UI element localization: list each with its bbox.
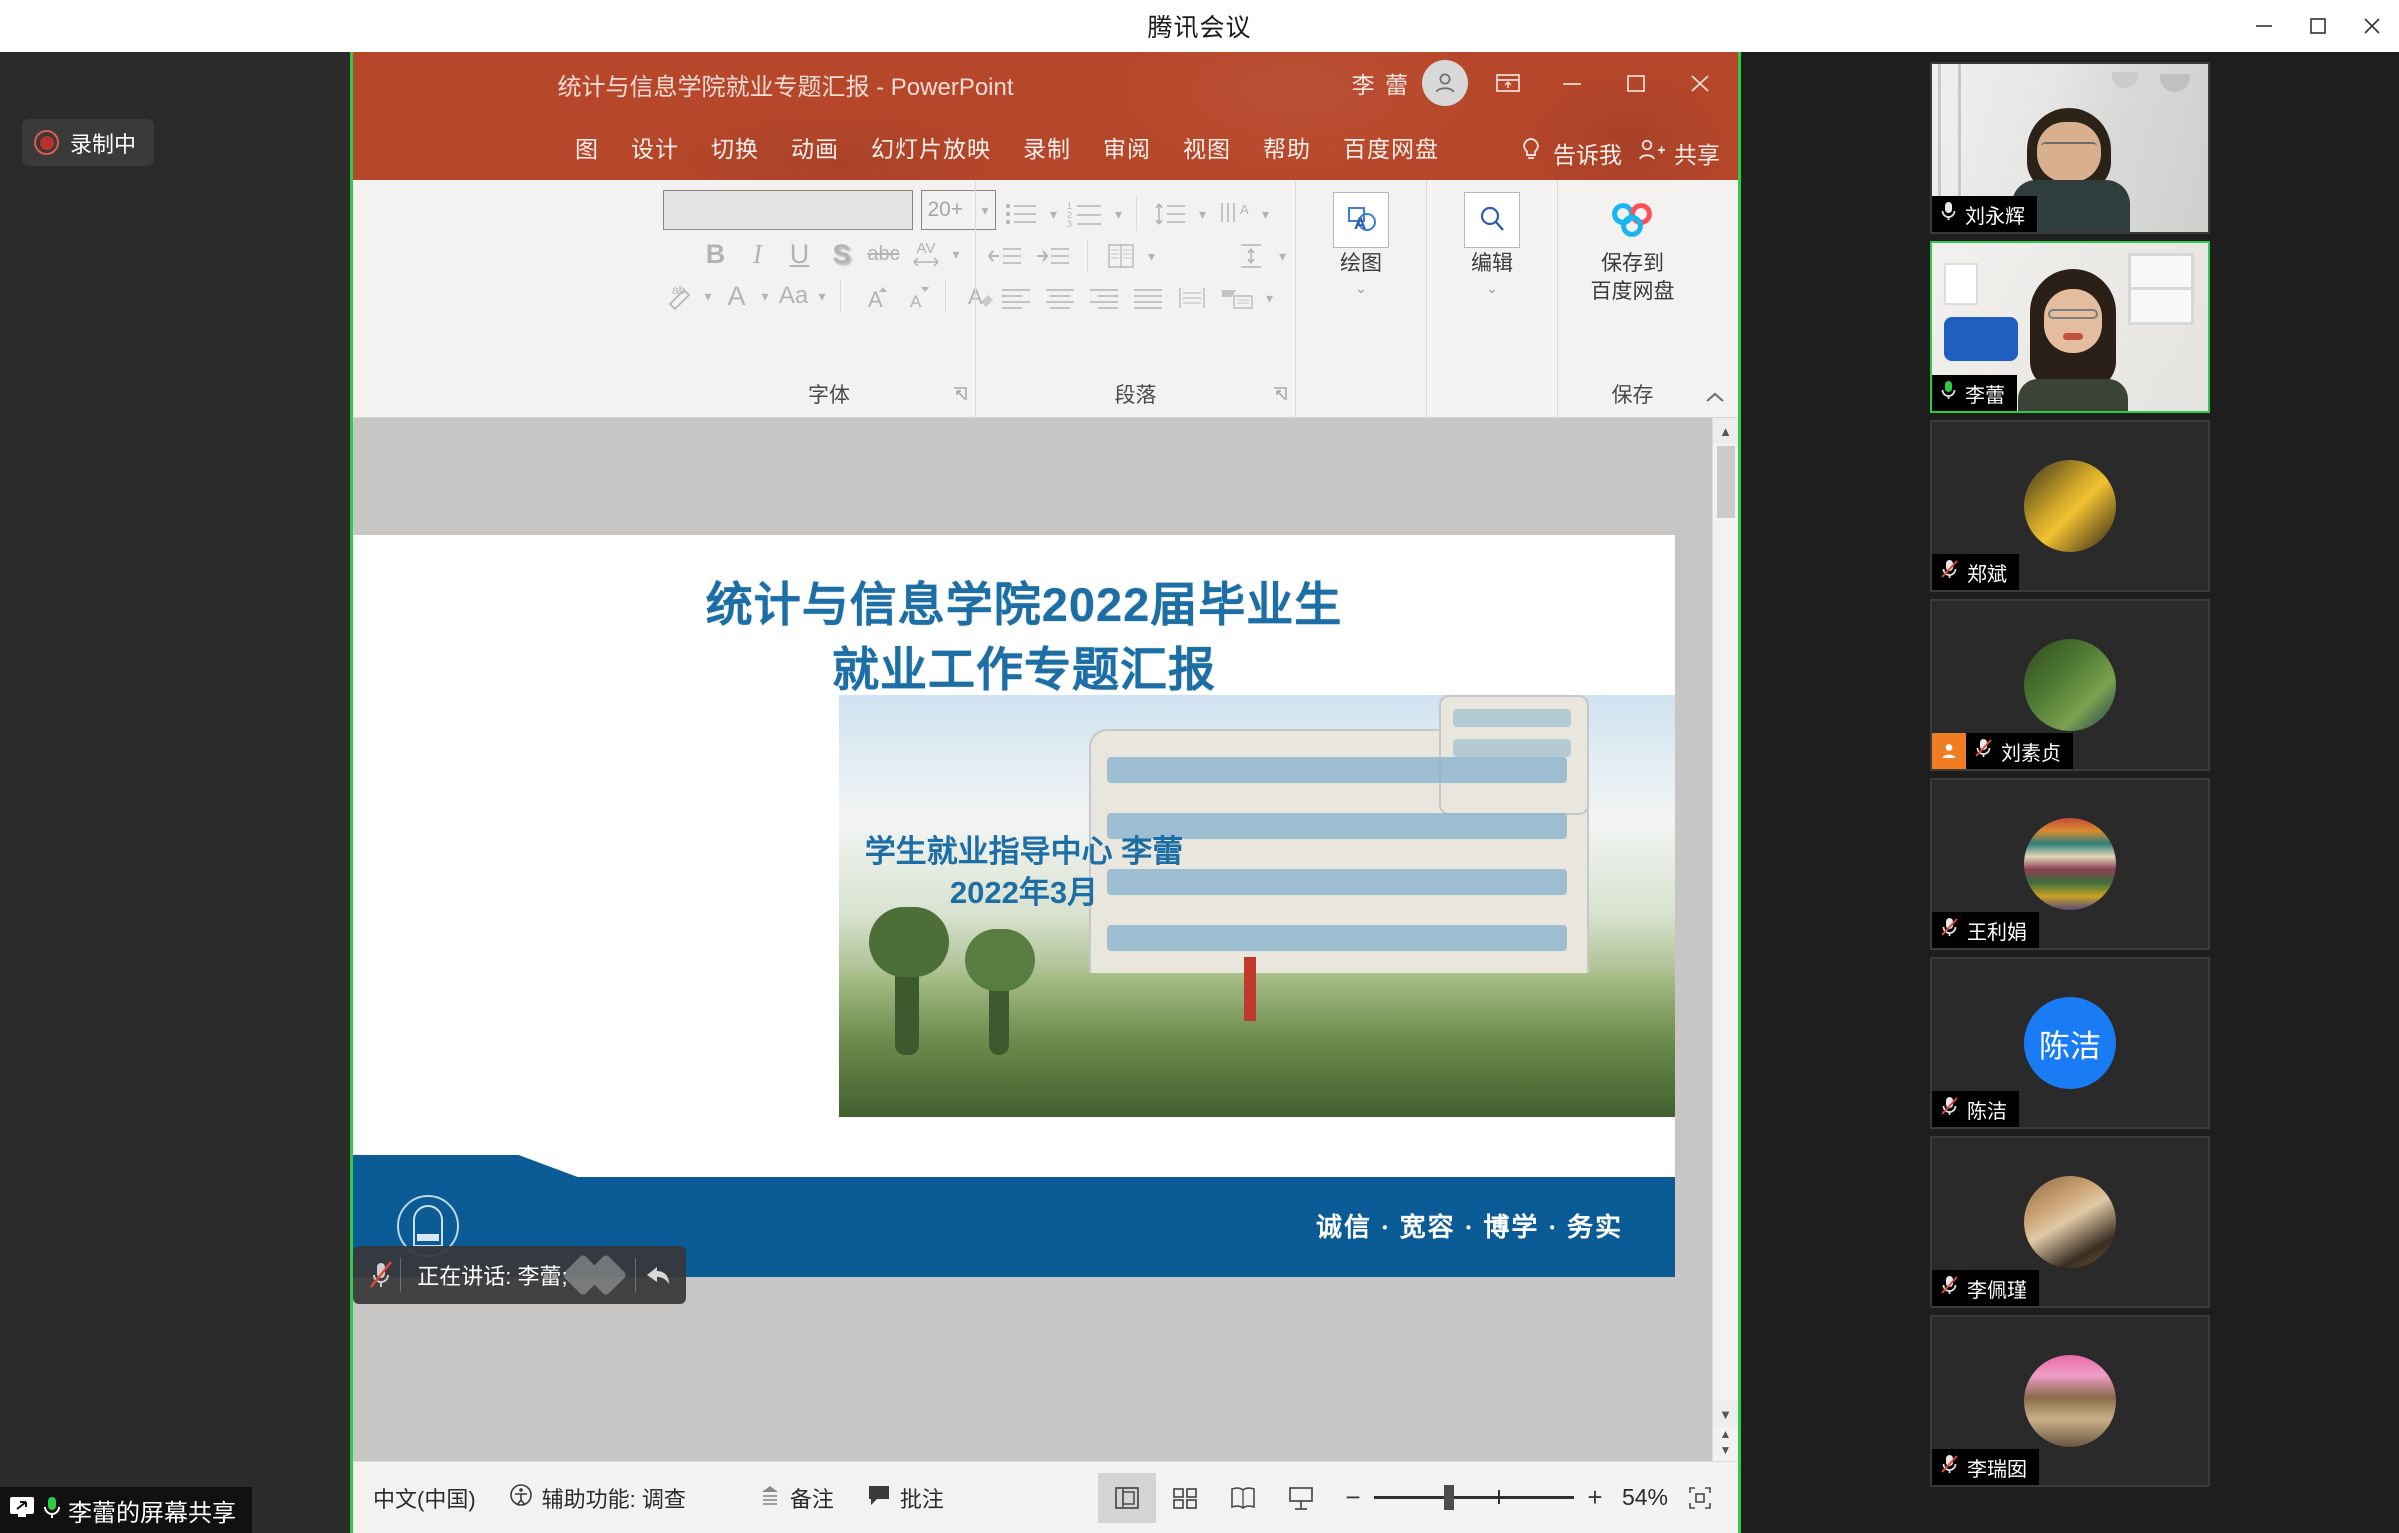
- comments-label: 批注: [900, 1482, 944, 1514]
- align-left-button[interactable]: [998, 278, 1034, 318]
- tell-me-button[interactable]: 告诉我: [1519, 136, 1622, 170]
- align-center-button[interactable]: [1042, 278, 1078, 318]
- mic-icon: [1940, 379, 1957, 407]
- zoom-out-button[interactable]: −: [1342, 1482, 1364, 1513]
- align-text-vertical-button[interactable]: [1231, 236, 1271, 276]
- avatar: [2024, 460, 2116, 552]
- font-size-value: 20+: [928, 198, 964, 222]
- accessibility-icon: [508, 1482, 534, 1514]
- account-name: 李 蕾: [1352, 66, 1410, 100]
- notes-icon: [758, 1483, 782, 1513]
- text-direction-chevron-icon[interactable]: ▾: [1262, 206, 1269, 223]
- slide-nav-buttons: ▲ ▼: [1720, 1427, 1732, 1461]
- character-spacing-button[interactable]: AV: [908, 234, 944, 274]
- columns-chevron-icon[interactable]: ▾: [1148, 248, 1155, 265]
- accessibility-label: 辅助功能: 调查: [542, 1482, 686, 1514]
- divider: [945, 279, 946, 313]
- notes-label: 备注: [790, 1482, 834, 1514]
- font-color-button[interactable]: A: [719, 276, 753, 316]
- ribbon-group-font: 20+ ▾ B I U S abc AV ▾ a: [683, 180, 975, 417]
- svg-text:3: 3: [1067, 219, 1072, 229]
- powerpoint-window: 统计与信息学院就业专题汇报 - PowerPoint 李 蕾: [350, 52, 1741, 1533]
- maximize-icon[interactable]: [2291, 0, 2345, 52]
- participant-name-badge: 刘素贞: [1966, 733, 2073, 769]
- tab-view[interactable]: 视图: [1167, 130, 1247, 164]
- slide-title: 统计与信息学院2022届毕业生 就业工作专题汇报: [353, 573, 1675, 703]
- zoom-in-button[interactable]: +: [1584, 1482, 1606, 1513]
- drawing-chevron-icon[interactable]: ⌄: [1355, 280, 1367, 297]
- scroll-up-icon[interactable]: ▲: [1713, 418, 1739, 444]
- ribbon-group-save: 保存到 百度网盘 保存: [1557, 180, 1707, 417]
- convert-to-smartart-button[interactable]: [1218, 278, 1258, 318]
- comment-icon: [866, 1483, 892, 1513]
- smartart-chevron-icon[interactable]: ▾: [1266, 290, 1273, 307]
- scroll-down-icon[interactable]: ▼: [1713, 1401, 1739, 1427]
- save-to-baidu-label-line1: 保存到: [1601, 252, 1664, 276]
- text-shadow-button[interactable]: S: [824, 234, 858, 274]
- ppt-header: 统计与信息学院就业专题汇报 - PowerPoint 李 蕾: [353, 52, 1738, 180]
- editing-label: 编辑: [1471, 252, 1513, 276]
- tab-view-clipped[interactable]: 图: [575, 130, 615, 164]
- participant-name: 李蕾: [1965, 379, 2005, 408]
- divider: [1087, 239, 1088, 273]
- distributed-button[interactable]: [1174, 278, 1210, 318]
- close-icon[interactable]: [2345, 0, 2399, 52]
- share-button[interactable]: 共享: [1636, 136, 1730, 170]
- ppt-window-controls: [1476, 58, 1732, 108]
- lightbulb-icon: [1519, 136, 1543, 170]
- tab-record[interactable]: 录制: [1007, 130, 1087, 164]
- ribbon-display-options-icon[interactable]: [1476, 58, 1540, 108]
- tab-review[interactable]: 审阅: [1087, 130, 1167, 164]
- participant-tile[interactable]: 陈洁 陈洁: [1930, 957, 2210, 1129]
- divider: [840, 279, 841, 313]
- svg-text:A: A: [910, 292, 922, 311]
- character-spacing-chevron-icon[interactable]: ▾: [952, 246, 959, 263]
- underline-button[interactable]: U: [782, 234, 816, 274]
- font-group-label: 字体: [683, 379, 975, 409]
- mic-muted-icon: [1974, 737, 1993, 765]
- participant-name: 刘永辉: [1965, 200, 2025, 229]
- zoom-slider[interactable]: [1374, 1496, 1574, 1499]
- zoom-slider-thumb[interactable]: [1444, 1485, 1454, 1510]
- save-group-label: 保存: [1558, 379, 1707, 409]
- text-direction-button[interactable]: A: [1214, 194, 1254, 234]
- share-person-icon: [1636, 136, 1666, 170]
- change-case-button[interactable]: Aa: [777, 276, 811, 316]
- editing-button[interactable]: 编辑 ⌄: [1437, 180, 1547, 297]
- increase-font-size-button[interactable]: A: [855, 276, 889, 316]
- participant-tile[interactable]: 李蕾: [1930, 241, 2210, 413]
- tell-me-label: 告诉我: [1553, 136, 1622, 170]
- slide-subtitle: 学生就业指导中心 李蕾 2022年3月: [353, 831, 1675, 913]
- avatar: [2024, 1355, 2116, 1447]
- mic-icon: [1940, 200, 1957, 228]
- comments-button[interactable]: 批注: [850, 1482, 960, 1514]
- recording-label: 录制中: [70, 127, 136, 159]
- drawing-icon: A: [1333, 192, 1389, 248]
- slide-subtitle-line1: 学生就业指导中心 李蕾: [373, 831, 1675, 872]
- align-text-chevron-icon[interactable]: ▾: [1279, 248, 1286, 265]
- font-dialog-launcher-icon[interactable]: [951, 385, 969, 407]
- tab-slideshow[interactable]: 幻灯片放映: [855, 130, 1007, 164]
- participant-name-badge: 李瑞囡: [1932, 1449, 2039, 1485]
- font-color-chevron-icon[interactable]: ▾: [761, 288, 768, 305]
- meeting-window-controls: [2237, 0, 2399, 52]
- account-area[interactable]: 李 蕾: [1352, 60, 1468, 106]
- participant-tile[interactable]: 李佩瑾: [1930, 1136, 2210, 1308]
- participant-name: 陈洁: [1967, 1095, 2007, 1124]
- text-highlight-button[interactable]: ab: [662, 276, 696, 316]
- mic-muted-icon: [1940, 1453, 1959, 1481]
- avatar: [2024, 1176, 2116, 1268]
- tab-animations[interactable]: 动画: [775, 130, 855, 164]
- slide-sorter-button[interactable]: [1156, 1473, 1214, 1523]
- participant-name-badge: 李蕾: [1932, 375, 2017, 411]
- ribbon-group-editing: 编辑 ⌄: [1426, 180, 1557, 417]
- participant-name: 李佩瑾: [1967, 1274, 2027, 1303]
- slide-canvas[interactable]: 统计与信息学院2022届毕业生 就业工作专题汇报 学生就业指导中心 李蕾 202…: [353, 535, 1675, 1277]
- meeting-logo-icon: [568, 1260, 621, 1290]
- avatar[interactable]: [1422, 60, 1468, 106]
- share-label: 共享: [1674, 136, 1720, 170]
- drawing-label: 绘图: [1340, 252, 1382, 276]
- slide-stage: 统计与信息学院2022届毕业生 就业工作专题汇报 学生就业指导中心 李蕾 202…: [353, 418, 1738, 1461]
- participant-name-badge: 陈洁: [1932, 1091, 2019, 1127]
- numbering-button[interactable]: 123: [1065, 194, 1107, 234]
- avatar-initials: 陈洁: [2024, 997, 2116, 1089]
- participant-name: 王利娟: [1967, 916, 2027, 945]
- notes-button[interactable]: 备注: [742, 1482, 850, 1514]
- collapse-ribbon-icon[interactable]: [1704, 390, 1726, 411]
- accessibility-status[interactable]: 辅助功能: 调查: [492, 1482, 702, 1514]
- zoom-control[interactable]: − + 54%: [1330, 1482, 1734, 1513]
- previous-slide-icon[interactable]: ▲: [1720, 1427, 1732, 1441]
- slide-motto: 诚信 · 宽容 · 博学 · 务实: [1316, 1207, 1623, 1244]
- participants-rail[interactable]: 刘永辉 李蕾: [1741, 52, 2399, 1533]
- font-name-input[interactable]: [663, 190, 913, 230]
- screen-share-icon: [8, 1495, 36, 1526]
- ribbon-right-actions: 告诉我 共享: [1519, 136, 1730, 170]
- save-to-baidu-button[interactable]: 保存到 百度网盘: [1563, 180, 1703, 304]
- tab-help[interactable]: 帮助: [1247, 130, 1327, 164]
- slide-title-line2: 就业工作专题汇报: [373, 638, 1675, 703]
- svg-text:A: A: [1240, 202, 1249, 217]
- speaking-label: 正在讲话: 李蕾;: [401, 1259, 567, 1291]
- fit-to-window-icon[interactable]: [1678, 1485, 1722, 1511]
- participant-tile[interactable]: 王利娟: [1930, 778, 2210, 950]
- participant-name: 郑斌: [1967, 558, 2007, 587]
- paragraph-group-label: 段落: [976, 379, 1295, 409]
- language-label: 中文(中国): [373, 1482, 476, 1514]
- decrease-indent-button[interactable]: [985, 236, 1025, 276]
- ppt-maximize-icon[interactable]: [1604, 58, 1668, 108]
- left-dark-pane: 录制中: [0, 52, 350, 1533]
- screen-root: 腾讯会议 录制中 统计与信息学院就业专题汇报 - PowerPoint: [0, 0, 2399, 1533]
- bold-button[interactable]: B: [698, 234, 732, 274]
- tab-baidu-netdisk[interactable]: 百度网盘: [1327, 130, 1455, 164]
- change-case-chevron-icon[interactable]: ▾: [819, 288, 826, 305]
- strikethrough-button[interactable]: abc: [866, 234, 900, 274]
- screen-share-chip[interactable]: 李蕾的屏幕共享: [0, 1487, 252, 1533]
- ppt-close-icon[interactable]: [1668, 58, 1732, 108]
- ppt-minimize-icon[interactable]: [1540, 58, 1604, 108]
- line-spacing-button[interactable]: [1151, 194, 1191, 234]
- minimize-icon[interactable]: [2237, 0, 2291, 52]
- participant-name-badge: 王利娟: [1932, 912, 2039, 948]
- host-badge: [1932, 733, 1966, 769]
- svg-text:A: A: [1354, 214, 1366, 233]
- participant-name: 刘素贞: [2001, 737, 2061, 766]
- bullets-chevron-icon[interactable]: ▾: [1050, 206, 1057, 223]
- slide-subtitle-line2: 2022年3月: [373, 872, 1675, 913]
- slide-vertical-scrollbar[interactable]: ▲ ▼ ▲ ▼: [1712, 418, 1738, 1461]
- baidu-netdisk-icon: [1607, 192, 1659, 248]
- align-right-button[interactable]: [1086, 278, 1122, 318]
- ribbon-body: 20+ ▾ B I U S abc AV ▾ a: [353, 180, 1738, 418]
- numbering-chevron-icon[interactable]: ▾: [1115, 206, 1122, 223]
- mic-icon: [42, 1494, 62, 1527]
- save-to-baidu-label-line2: 百度网盘: [1591, 280, 1675, 304]
- mic-muted-icon: [1940, 1095, 1959, 1123]
- participant-tile[interactable]: 郑斌: [1930, 420, 2210, 592]
- drawing-button[interactable]: A 绘图 ⌄: [1306, 180, 1416, 297]
- line-spacing-chevron-icon[interactable]: ▾: [1199, 206, 1206, 223]
- zoom-slider-tick: [1498, 1490, 1500, 1504]
- paragraph-dialog-launcher-icon[interactable]: [1271, 385, 1289, 407]
- bullets-button[interactable]: [1002, 194, 1042, 234]
- language-status[interactable]: 中文(中国): [357, 1482, 492, 1514]
- ribbon-group-drawing: A 绘图 ⌄: [1295, 180, 1426, 417]
- mic-muted-icon: [1940, 916, 1959, 944]
- highlight-chevron-icon[interactable]: ▾: [704, 288, 711, 305]
- next-slide-icon[interactable]: ▼: [1720, 1443, 1732, 1457]
- back-arrow-icon[interactable]: [635, 1261, 678, 1289]
- divider: [1136, 197, 1137, 231]
- increase-indent-button[interactable]: [1033, 236, 1073, 276]
- participant-name: 李瑞囡: [1967, 1453, 2027, 1482]
- normal-view-button[interactable]: [1098, 1473, 1156, 1523]
- meeting-titlebar: 腾讯会议: [0, 0, 2399, 52]
- zoom-percent: 54%: [1616, 1484, 1668, 1511]
- participant-tile[interactable]: 刘永辉: [1930, 62, 2210, 234]
- avatar: [2024, 818, 2116, 910]
- decrease-font-size-button[interactable]: A: [897, 276, 931, 316]
- speaking-overlay[interactable]: 正在讲话: 李蕾;: [353, 1246, 686, 1304]
- participant-tile[interactable]: 刘素贞: [1930, 599, 2210, 771]
- recording-badge: 录制中: [22, 119, 154, 166]
- mic-muted-icon: [1940, 1274, 1959, 1302]
- record-icon: [34, 130, 59, 155]
- view-buttons: [1098, 1473, 1330, 1523]
- justify-button[interactable]: [1130, 278, 1166, 318]
- participant-name-badge: 李佩瑾: [1932, 1270, 2039, 1306]
- columns-button[interactable]: [1102, 236, 1140, 276]
- meeting-app-title: 腾讯会议: [1147, 8, 1251, 44]
- svg-text:AV: AV: [917, 240, 936, 257]
- participant-tile[interactable]: 李瑞囡: [1930, 1315, 2210, 1487]
- scrollbar-thumb[interactable]: [1717, 446, 1735, 518]
- slide-title-line1: 统计与信息学院2022届毕业生: [373, 573, 1675, 638]
- participant-name-badge: 刘永辉: [1932, 196, 2037, 232]
- italic-button[interactable]: I: [740, 234, 774, 274]
- share-chip-label: 李蕾的屏幕共享: [68, 1493, 236, 1528]
- ribbon-group-paragraph: ▾ 123 ▾ ▾ A ▾: [975, 180, 1295, 417]
- slideshow-button[interactable]: [1272, 1473, 1330, 1523]
- participant-name-badge: 郑斌: [1932, 554, 2019, 590]
- reading-view-button[interactable]: [1214, 1473, 1272, 1523]
- tab-design[interactable]: 设计: [615, 130, 695, 164]
- mic-muted-icon[interactable]: [361, 1258, 400, 1292]
- search-icon: [1464, 192, 1520, 248]
- tab-transitions[interactable]: 切换: [695, 130, 775, 164]
- editing-chevron-icon[interactable]: ⌄: [1486, 280, 1498, 297]
- avatar: [2024, 639, 2116, 731]
- ppt-status-bar: 中文(中国) 辅助功能: 调查 备注 批注: [353, 1461, 1738, 1533]
- mic-muted-icon: [1940, 558, 1959, 586]
